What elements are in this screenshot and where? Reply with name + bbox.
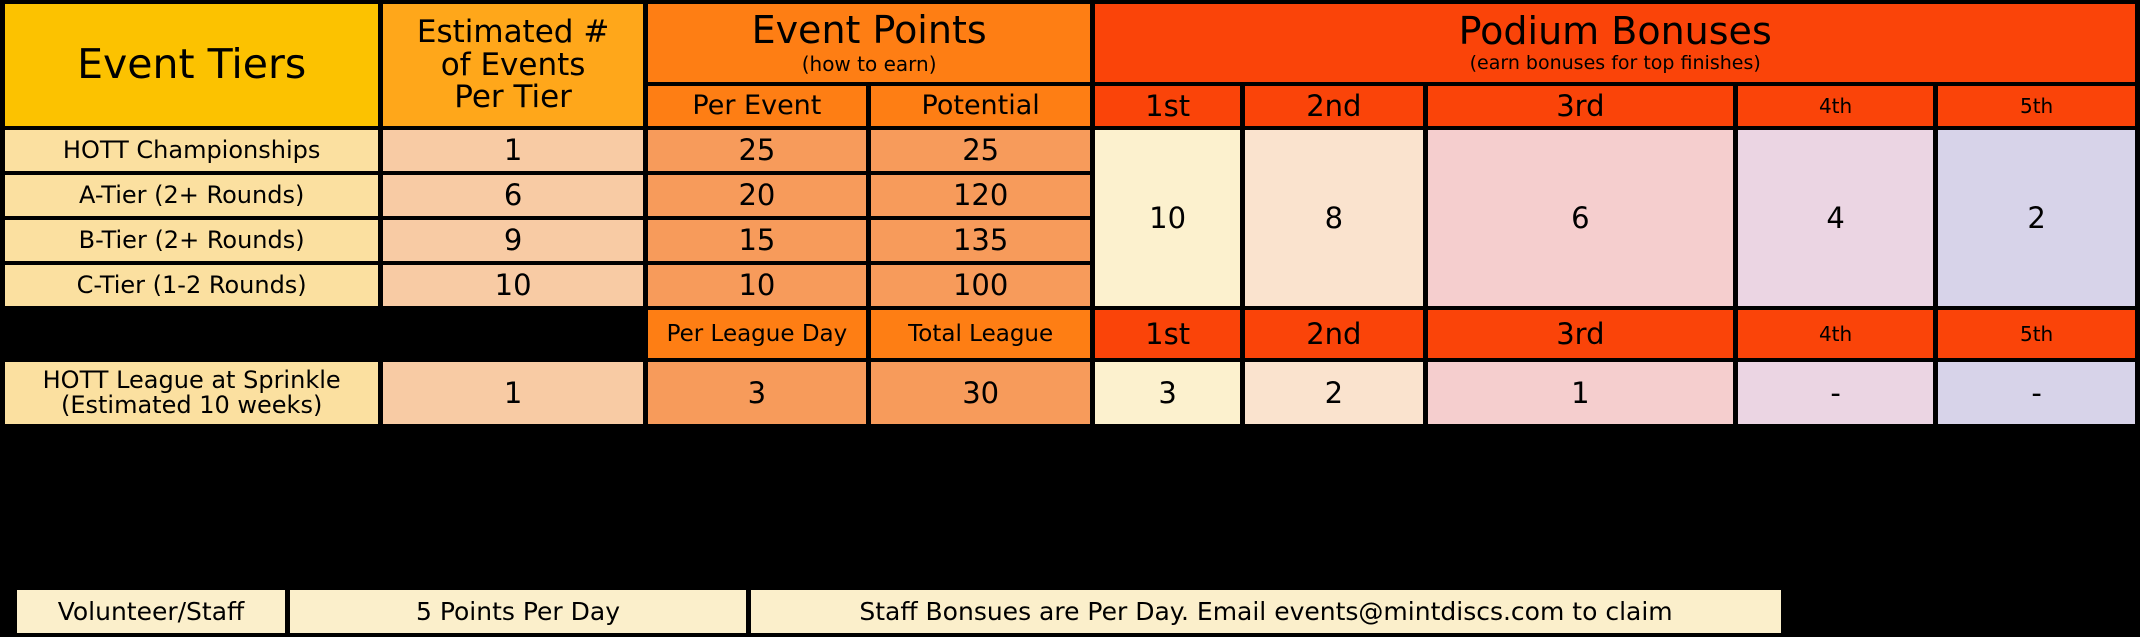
league-row-2nd: 2 (1245, 362, 1423, 424)
row-tier-name: A-Tier (2+ Rounds) (5, 175, 378, 216)
league-row-1st: 3 (1095, 362, 1240, 424)
footer-row: Volunteer/Staff 5 Points Per Day Staff B… (17, 590, 1781, 633)
header-estimated-line2: of Events (441, 47, 586, 83)
row-potential: 135 (871, 220, 1090, 261)
league-row-name: HOTT League at Sprinkle (Estimated 10 we… (5, 362, 378, 424)
podium-merged-1st: 10 (1095, 130, 1240, 306)
subheader-2nd: 2nd (1245, 86, 1423, 126)
footer-band: Volunteer/Staff 5 Points Per Day Staff B… (0, 586, 2140, 637)
row-tier-name: HOTT Championships (5, 130, 378, 171)
row-per-event: 15 (648, 220, 866, 261)
league-data-row: HOTT League at Sprinkle (Estimated 10 we… (5, 362, 2135, 424)
table-row: HOTT Championships 1 25 25 10 8 6 4 2 (5, 130, 2135, 171)
header-event-points: Event Points (how to earn) (648, 4, 1091, 82)
footer-role: Volunteer/Staff (17, 590, 285, 633)
league-subheader-1st: 1st (1095, 310, 1240, 358)
header-event-points-title: Event Points (648, 11, 1091, 51)
row-event-count: 6 (383, 175, 643, 216)
row-tier-name: B-Tier (2+ Rounds) (5, 220, 378, 261)
footer-table: Volunteer/Staff 5 Points Per Day Staff B… (12, 586, 1786, 637)
points-table: Event Tiers Estimated # of Events Per Ti… (0, 0, 2140, 428)
league-subheader-5th: 5th (1938, 310, 2135, 358)
row-tier-name: C-Tier (1-2 Rounds) (5, 265, 378, 306)
podium-merged-2nd: 8 (1245, 130, 1423, 306)
league-subheader-2nd: 2nd (1245, 310, 1423, 358)
league-subheader-total: Total League (871, 310, 1090, 358)
row-event-count: 9 (383, 220, 643, 261)
header-event-points-sub: (how to earn) (648, 54, 1091, 75)
subheader-5th: 5th (1938, 86, 2135, 126)
row-event-count: 10 (383, 265, 643, 306)
league-row-name-line2: (Estimated 10 weeks) (61, 391, 322, 419)
row-per-event: 20 (648, 175, 866, 216)
league-row-name-line1: HOTT League at Sprinkle (43, 366, 341, 394)
row-per-event: 10 (648, 265, 866, 306)
league-subheader-4th: 4th (1738, 310, 1933, 358)
subheader-per-event: Per Event (648, 86, 866, 126)
league-row-total: 30 (871, 362, 1090, 424)
league-row-event-count: 1 (383, 362, 643, 424)
row-per-event: 25 (648, 130, 866, 171)
row-potential: 100 (871, 265, 1090, 306)
podium-merged-5th: 2 (1938, 130, 2135, 306)
header-estimated-events: Estimated # of Events Per Tier (383, 4, 643, 126)
league-banner-row: 2026 NEW | PDGA League Per League Day To… (5, 310, 2135, 358)
subheader-3rd: 3rd (1428, 86, 1733, 126)
row-potential: 120 (871, 175, 1090, 216)
league-row-5th: - (1938, 362, 2135, 424)
footer-points: 5 Points Per Day (290, 590, 746, 633)
header-estimated-line3: Per Tier (454, 79, 572, 115)
footer-note: Staff Bonsues are Per Day. Email events@… (751, 590, 1781, 633)
league-row-4th: - (1738, 362, 1933, 424)
header-podium-sub: (earn bonuses for top finishes) (1095, 54, 2135, 74)
subheader-4th: 4th (1738, 86, 1933, 126)
league-banner-title: 2026 NEW | PDGA League (5, 310, 643, 358)
league-row-3rd: 1 (1428, 362, 1733, 424)
subheader-1st: 1st (1095, 86, 1240, 126)
header-podium-title: Podium Bonuses (1095, 12, 2135, 52)
podium-merged-4th: 4 (1738, 130, 1933, 306)
league-subheader-3rd: 3rd (1428, 310, 1733, 358)
row-potential: 25 (871, 130, 1090, 171)
header-event-tiers: Event Tiers (5, 4, 378, 126)
points-table-graphic: Event Tiers Estimated # of Events Per Ti… (0, 0, 2140, 637)
row-event-count: 1 (383, 130, 643, 171)
league-subheader-per-day: Per League Day (648, 310, 866, 358)
subheader-potential: Potential (871, 86, 1090, 126)
header-podium-bonuses: Podium Bonuses (earn bonuses for top fin… (1095, 4, 2135, 82)
header-estimated-line1: Estimated # (417, 14, 609, 50)
league-row-per-day: 3 (648, 362, 866, 424)
podium-merged-3rd: 6 (1428, 130, 1733, 306)
header-row-top: Event Tiers Estimated # of Events Per Ti… (5, 4, 2135, 82)
